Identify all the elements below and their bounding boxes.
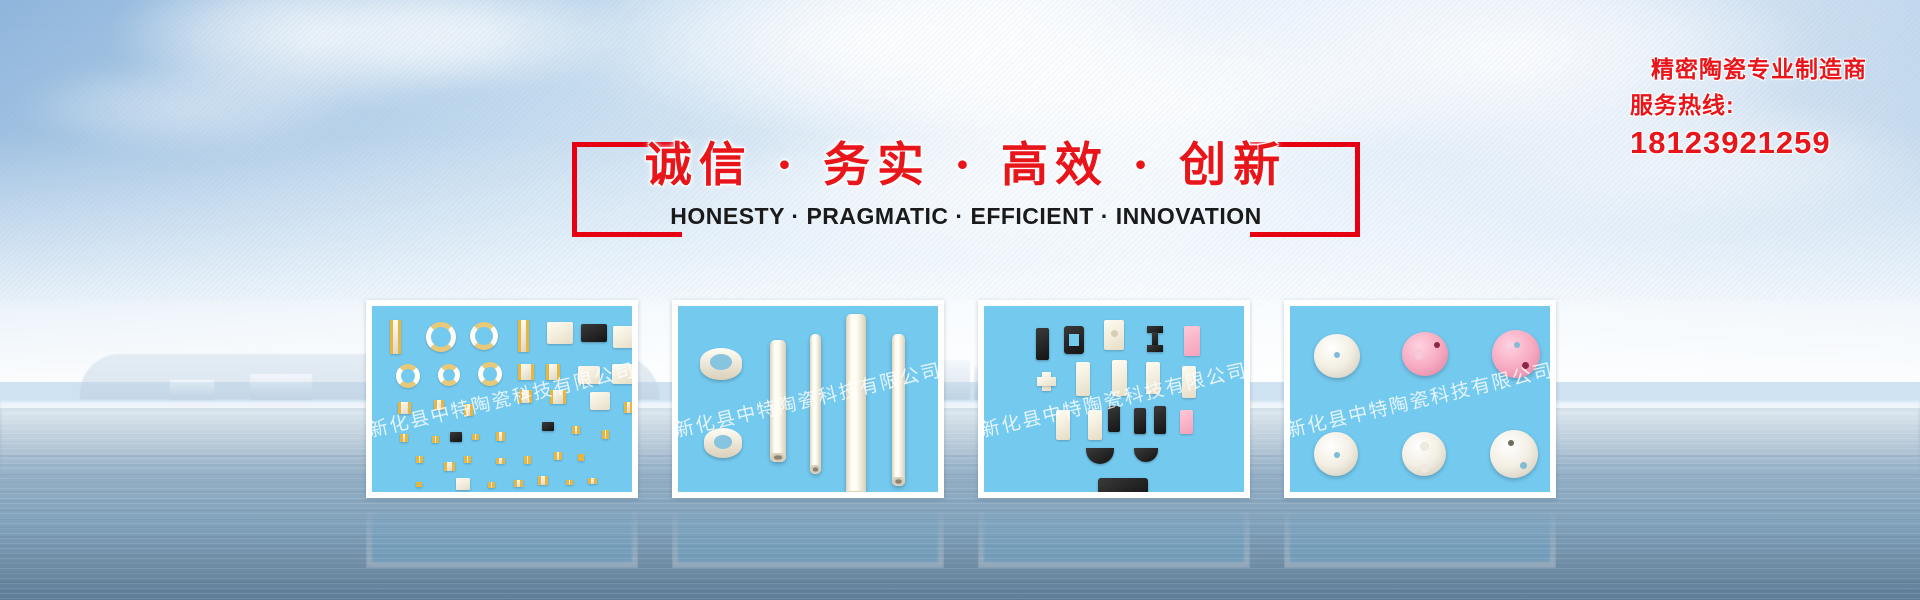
product-image-3: 新化县中特陶瓷科技有限公司 [984, 306, 1244, 492]
promo-banner: 诚信 · 务实 · 高效 · 创新 HONESTY · PRAGMATIC · … [0, 0, 1920, 600]
product-panel-2[interactable]: 新化县中特陶瓷科技有限公司 [672, 300, 944, 498]
panel-reflection [1284, 506, 1556, 568]
product-panel-1[interactable]: 新化县中特陶瓷科技有限公司 [366, 300, 638, 498]
product-panel-4[interactable]: 新化县中特陶瓷科技有限公司 [1284, 300, 1556, 498]
panel-reflection [672, 506, 944, 568]
product-image-4: 新化县中特陶瓷科技有限公司 [1290, 306, 1550, 492]
panel-reflection [366, 506, 638, 568]
panel-reflections [0, 0, 1920, 600]
product-image-2: 新化县中特陶瓷科技有限公司 [678, 306, 938, 492]
panel-reflection [978, 506, 1250, 568]
product-image-1: 新化县中特陶瓷科技有限公司 [372, 306, 632, 492]
product-panel-3[interactable]: 新化县中特陶瓷科技有限公司 [978, 300, 1250, 498]
